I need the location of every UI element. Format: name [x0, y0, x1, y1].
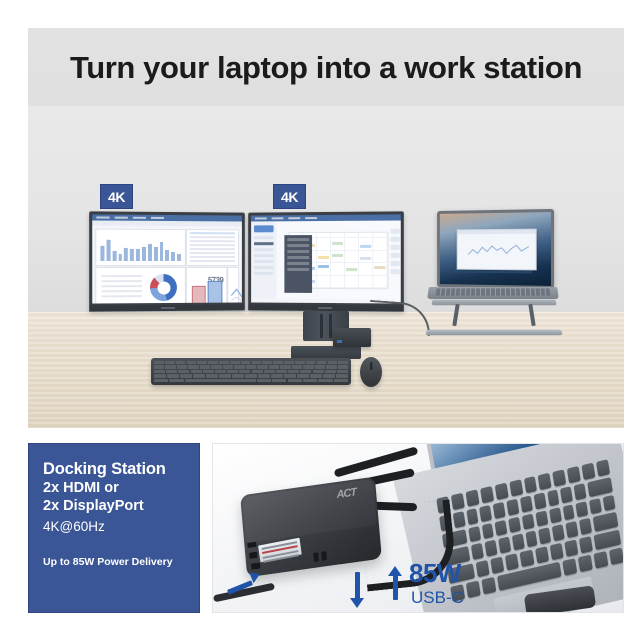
laptop-stand-base	[425, 330, 562, 336]
power-callout: 85W	[409, 560, 461, 586]
workstation-scene: 4K 4K	[28, 106, 624, 428]
macbook-keyboard	[436, 459, 624, 602]
dock-port-displayport	[249, 552, 257, 559]
monitor-left-screen: 5739	[92, 214, 242, 303]
calendar-right-rail	[391, 229, 400, 294]
kpi-bar-a	[192, 286, 206, 304]
laptop-screen	[440, 212, 551, 286]
calendar-detail-panel	[284, 235, 312, 293]
dock-port-usb-a-2	[321, 551, 327, 561]
compose-button	[254, 225, 274, 232]
docking-station-product: ACT	[240, 477, 382, 578]
table-list-card	[186, 229, 239, 266]
donut-legend	[101, 275, 142, 300]
dual-monitor-group: 5739	[90, 212, 404, 316]
monitor-right	[248, 211, 404, 311]
bar-chart-card	[95, 229, 186, 266]
laptop-stand-platform	[432, 300, 557, 305]
laptop-stand-leg-right	[528, 304, 535, 326]
product-photo-panel: ACT 85W USB-C	[212, 443, 624, 613]
window-titlebar	[458, 229, 536, 234]
dock-top-surface: ACT	[242, 479, 377, 543]
dock-spec-label	[258, 538, 302, 563]
info-line-displayport: 2x DisplayPort	[43, 498, 199, 516]
resolution-badge-right: 4K	[273, 184, 306, 209]
line-chart-card	[227, 267, 239, 304]
info-line-hdmi: 2x HDMI or	[43, 480, 199, 498]
monitor-left: 5739	[89, 211, 245, 311]
monitor-right-screen	[251, 214, 401, 303]
info-panel: Docking Station 2x HDMI or 2x DisplayPor…	[28, 443, 200, 613]
kpi-card: 5739	[186, 267, 227, 304]
product-marketing-image: Turn your laptop into a work station 4K …	[0, 0, 640, 640]
dock-port-usb-a-1	[313, 552, 319, 562]
calendar-main	[277, 220, 401, 299]
donut-chart-card	[95, 267, 186, 304]
laptop-stand	[426, 299, 562, 337]
arrow-up-line	[393, 572, 398, 600]
act-brand-logo: ACT	[336, 486, 356, 501]
hero-panel: Turn your laptop into a work station 4K …	[28, 28, 624, 428]
docking-station-device	[333, 328, 371, 347]
laptop-lid	[437, 209, 554, 289]
info-line-resolution: 4K@60Hz	[43, 518, 199, 536]
arrow-up-head	[388, 566, 402, 576]
laptop-keyboard	[436, 288, 551, 295]
arrow-down-line	[355, 572, 360, 600]
mouse	[360, 357, 382, 387]
dashboard-body: 5739	[92, 226, 242, 300]
dock-port-hdmi	[247, 542, 256, 548]
bar-chart	[100, 237, 181, 261]
laptop-app-window	[457, 228, 537, 270]
sparkline-chart	[231, 280, 242, 304]
calendar-sidebar	[251, 221, 277, 298]
connector-callout: USB-C	[411, 589, 464, 606]
info-title: Docking Station	[43, 460, 199, 479]
keyboard	[151, 358, 351, 385]
laptop-base	[427, 287, 559, 299]
donut-chart	[150, 274, 177, 301]
info-line-power-delivery: Up to 85W Power Delivery	[43, 556, 199, 568]
monitor-left-bezel	[89, 304, 245, 311]
laptop-line-chart	[468, 241, 529, 260]
laptop-stand-leg-left	[452, 304, 459, 326]
resolution-badge-left: 4K	[100, 184, 133, 209]
page-title: Turn your laptop into a work station	[46, 50, 606, 86]
arrow-down-head	[350, 598, 364, 608]
kpi-bar-b	[208, 281, 223, 304]
